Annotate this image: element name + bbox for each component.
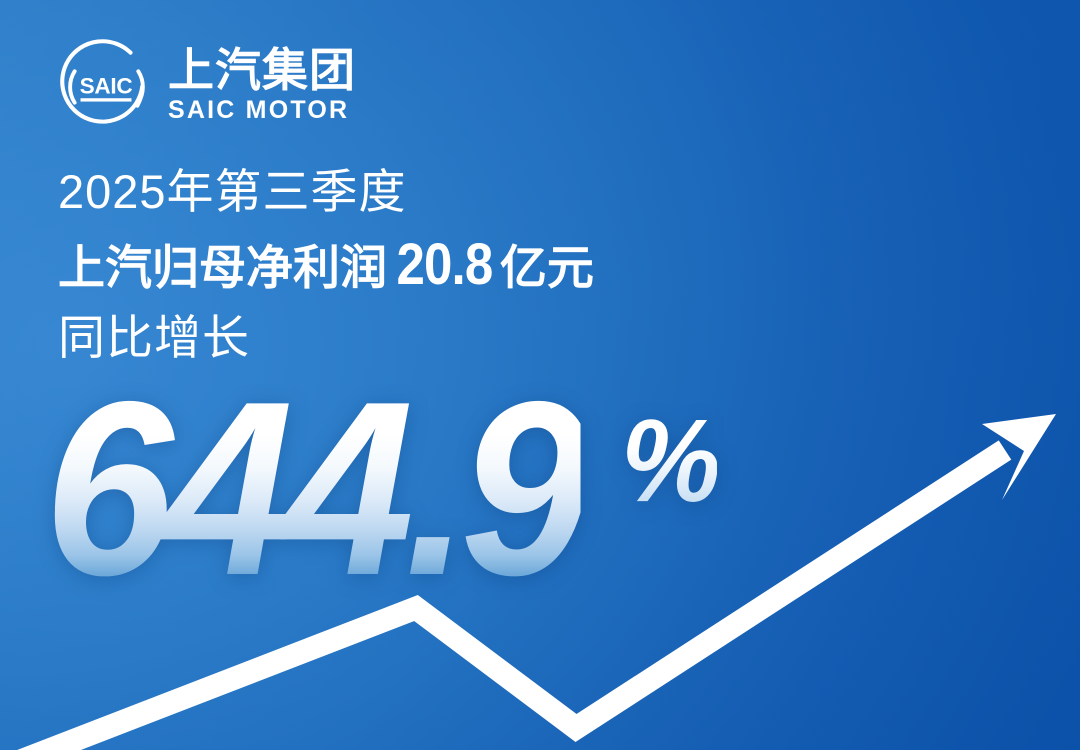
- headline-period: 2025年第三季度: [58, 168, 958, 215]
- headline-metric: 上汽归母净利润20.8亿元: [58, 236, 958, 294]
- metric-value: 20.8: [397, 236, 493, 294]
- saic-q3-results-poster: SAIC 上汽集团 SAIC MOTOR 2025年第三季度 上汽归母净利润20…: [0, 0, 1080, 750]
- hero-percent-sign: %: [621, 402, 717, 520]
- headline-block: 2025年第三季度 上汽归母净利润20.8亿元 同比增长: [58, 168, 958, 361]
- brand-logo-lockup: SAIC 上汽集团 SAIC MOTOR: [56, 36, 356, 134]
- hero-growth-value: 644.9: [44, 384, 580, 592]
- brand-wordmark: 上汽集团 SAIC MOTOR: [168, 45, 356, 126]
- svg-text:SAIC: SAIC: [80, 73, 133, 98]
- saic-ring-logo-icon: SAIC: [56, 36, 154, 134]
- metric-label: 上汽归母净利润: [58, 244, 387, 291]
- brand-name-en: SAIC MOTOR: [168, 95, 356, 125]
- brand-name-cn: 上汽集团: [168, 47, 356, 94]
- metric-unit: 亿元: [500, 244, 594, 291]
- hero-growth-figure: 644.9 %: [44, 384, 722, 592]
